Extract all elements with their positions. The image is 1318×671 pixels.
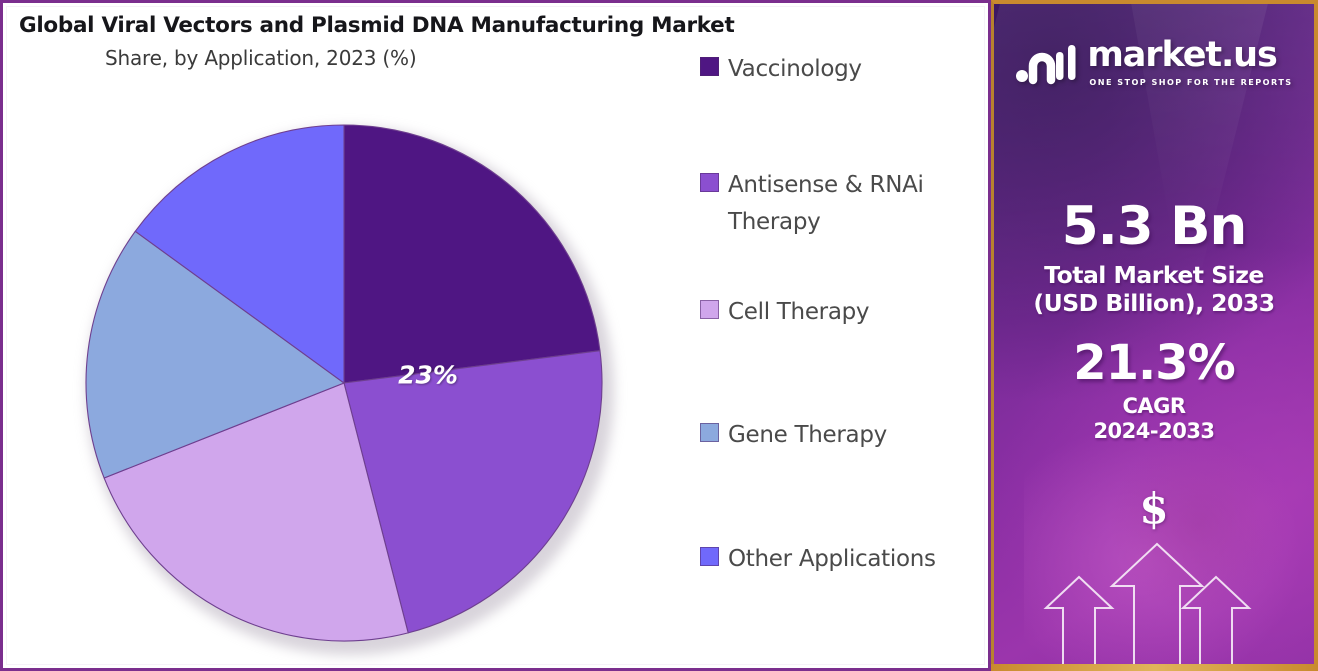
cagr-value: 21.3% [994,339,1314,388]
cagr-stat: 21.3% CAGR 2024-2033 [994,339,1314,443]
legend-item-label: Cell Therapy [728,294,869,331]
pie-chart: 23% [80,119,620,659]
page-title: Global Viral Vectors and Plasmid DNA Man… [19,13,719,40]
legend-item[interactable]: Vaccinology [700,51,862,88]
brand-wordmark: market.us [1087,38,1292,73]
legend-swatch-icon [700,57,719,76]
legend-swatch-icon [700,300,719,319]
pie-slice [344,125,600,383]
chart-panel: Global Viral Vectors and Plasmid DNA Man… [0,0,991,671]
legend-item-label: Antisense & RNAi Therapy [728,167,980,241]
brand-stats: 5.3 Bn Total Market Size (USD Billion), … [994,200,1314,444]
pie-chart-svg [80,119,620,659]
market-size-caption-line2: (USD Billion), 2033 [994,290,1314,318]
legend-swatch-icon [700,173,719,192]
legend-item-label: Vaccinology [728,51,862,88]
bottom-accent-strip [991,664,1318,671]
market-us-logo-icon [1015,40,1077,86]
legend-item[interactable]: Gene Therapy [700,417,887,454]
pie-slices [86,125,602,641]
brand-logo-text: market.us ONE STOP SHOP FOR THE REPORTS [1087,38,1292,87]
pie-slice-label-vaccinology: 23% [398,361,458,390]
market-size-caption-line1: Total Market Size [994,262,1314,290]
legend-item[interactable]: Antisense & RNAi Therapy [700,167,980,241]
chart-heading-block: Global Viral Vectors and Plasmid DNA Man… [19,13,719,70]
legend-item-label: Other Applications [728,541,936,578]
brand-panel: market.us ONE STOP SHOP FOR THE REPORTS … [991,0,1318,671]
legend-item[interactable]: Cell Therapy [700,294,869,331]
legend-swatch-icon [700,547,719,566]
infographic-root: Global Viral Vectors and Plasmid DNA Man… [0,0,1318,671]
legend-swatch-icon [700,423,719,442]
cagr-caption-line1: CAGR [994,394,1314,419]
market-size-caption: Total Market Size (USD Billion), 2033 [994,262,1314,317]
page-subtitle: Share, by Application, 2023 (%) [105,46,719,70]
brand-logo[interactable]: market.us ONE STOP SHOP FOR THE REPORTS [994,38,1314,87]
cagr-caption-line2: 2024-2033 [994,419,1314,444]
cagr-caption: CAGR 2024-2033 [994,394,1314,444]
growth-arrows-artwork: $ [994,482,1314,667]
legend-item-label: Gene Therapy [728,417,887,454]
dollar-sign-icon: $ [1139,488,1168,530]
legend-item[interactable]: Other Applications [700,541,936,578]
brand-tagline: ONE STOP SHOP FOR THE REPORTS [1089,77,1292,87]
market-size-value: 5.3 Bn [994,200,1314,254]
